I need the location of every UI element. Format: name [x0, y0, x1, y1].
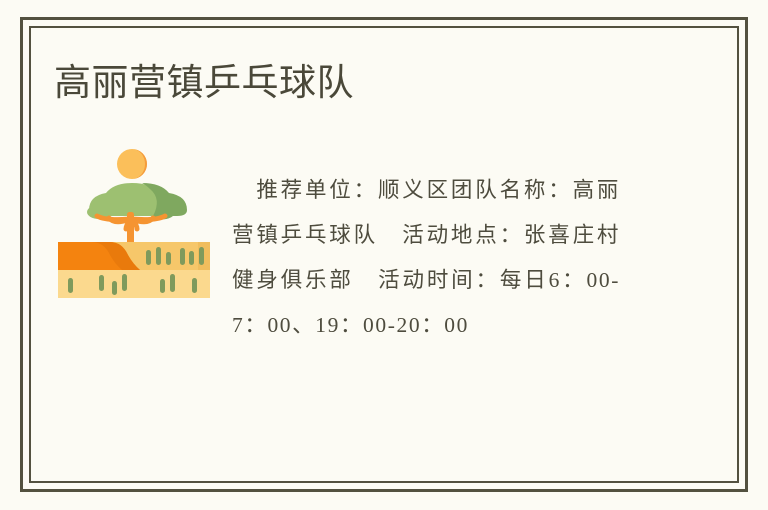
savanna-illustration-svg: [56, 142, 212, 298]
info-card: 高丽营镇乒乓球队: [0, 0, 768, 510]
page-title: 高丽营镇乒乓球队: [54, 60, 354, 106]
savanna-acacia-tree-icon: [56, 142, 212, 298]
ground-light-band: [58, 270, 210, 298]
activity-details-paragraph: 推荐单位：顺义区团队名称：高丽营镇乒乓球队 活动地点：张喜庄村健身俱乐部 活动时…: [232, 168, 620, 348]
tree-canopy-icon: [87, 183, 187, 220]
